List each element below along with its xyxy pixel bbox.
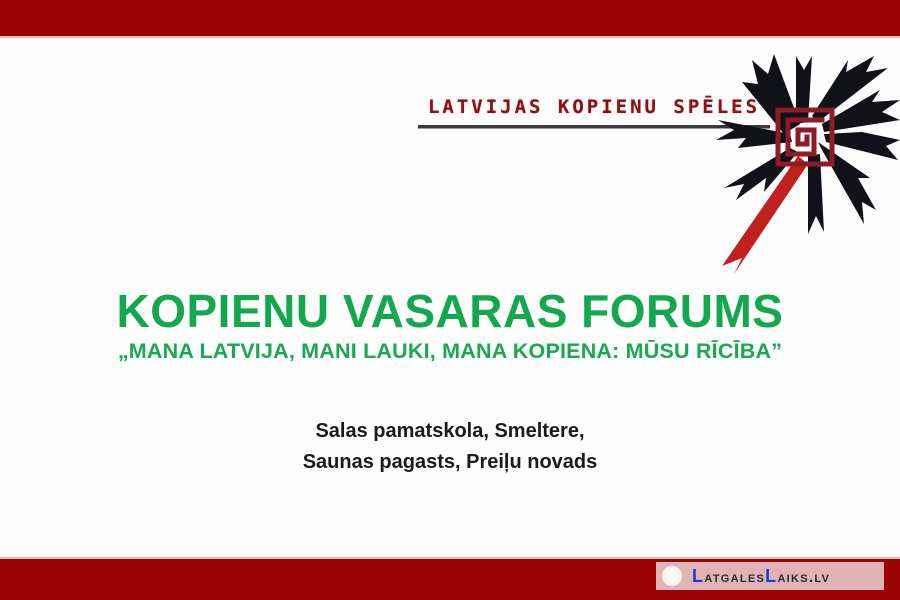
watermark-dot-icon — [662, 566, 682, 586]
starburst-logo-icon — [712, 38, 900, 274]
top-red-band — [0, 0, 900, 38]
watermark-initial-1: L — [692, 566, 704, 586]
watermark-label: LatgalesLaiks.lv — [692, 566, 830, 587]
venue-line-1: Salas pamatskola, Smeltere, — [0, 416, 900, 447]
title-block: KOPIENU VASARAS FORUMS „MANA LATVIJA, MA… — [0, 288, 900, 363]
page-title: KOPIENU VASARAS FORUMS — [0, 288, 900, 336]
venue-line-2: Saunas pagasts, Preiļu novads — [0, 447, 900, 478]
publisher-watermark[interactable]: LatgalesLaiks.lv — [656, 562, 884, 590]
watermark-word-1: atgales — [704, 569, 765, 586]
page-subtitle: „MANA LATVIJA, MANI LAUKI, MANA KOPIENA:… — [0, 340, 900, 364]
watermark-word-2: aiks.lv — [777, 569, 830, 586]
venue-block: Salas pamatskola, Smeltere, Saunas pagas… — [0, 416, 900, 478]
watermark-initial-2: L — [765, 566, 777, 586]
poster-canvas: LATVIJAS KOPIENU SPĒLES — [0, 0, 900, 600]
